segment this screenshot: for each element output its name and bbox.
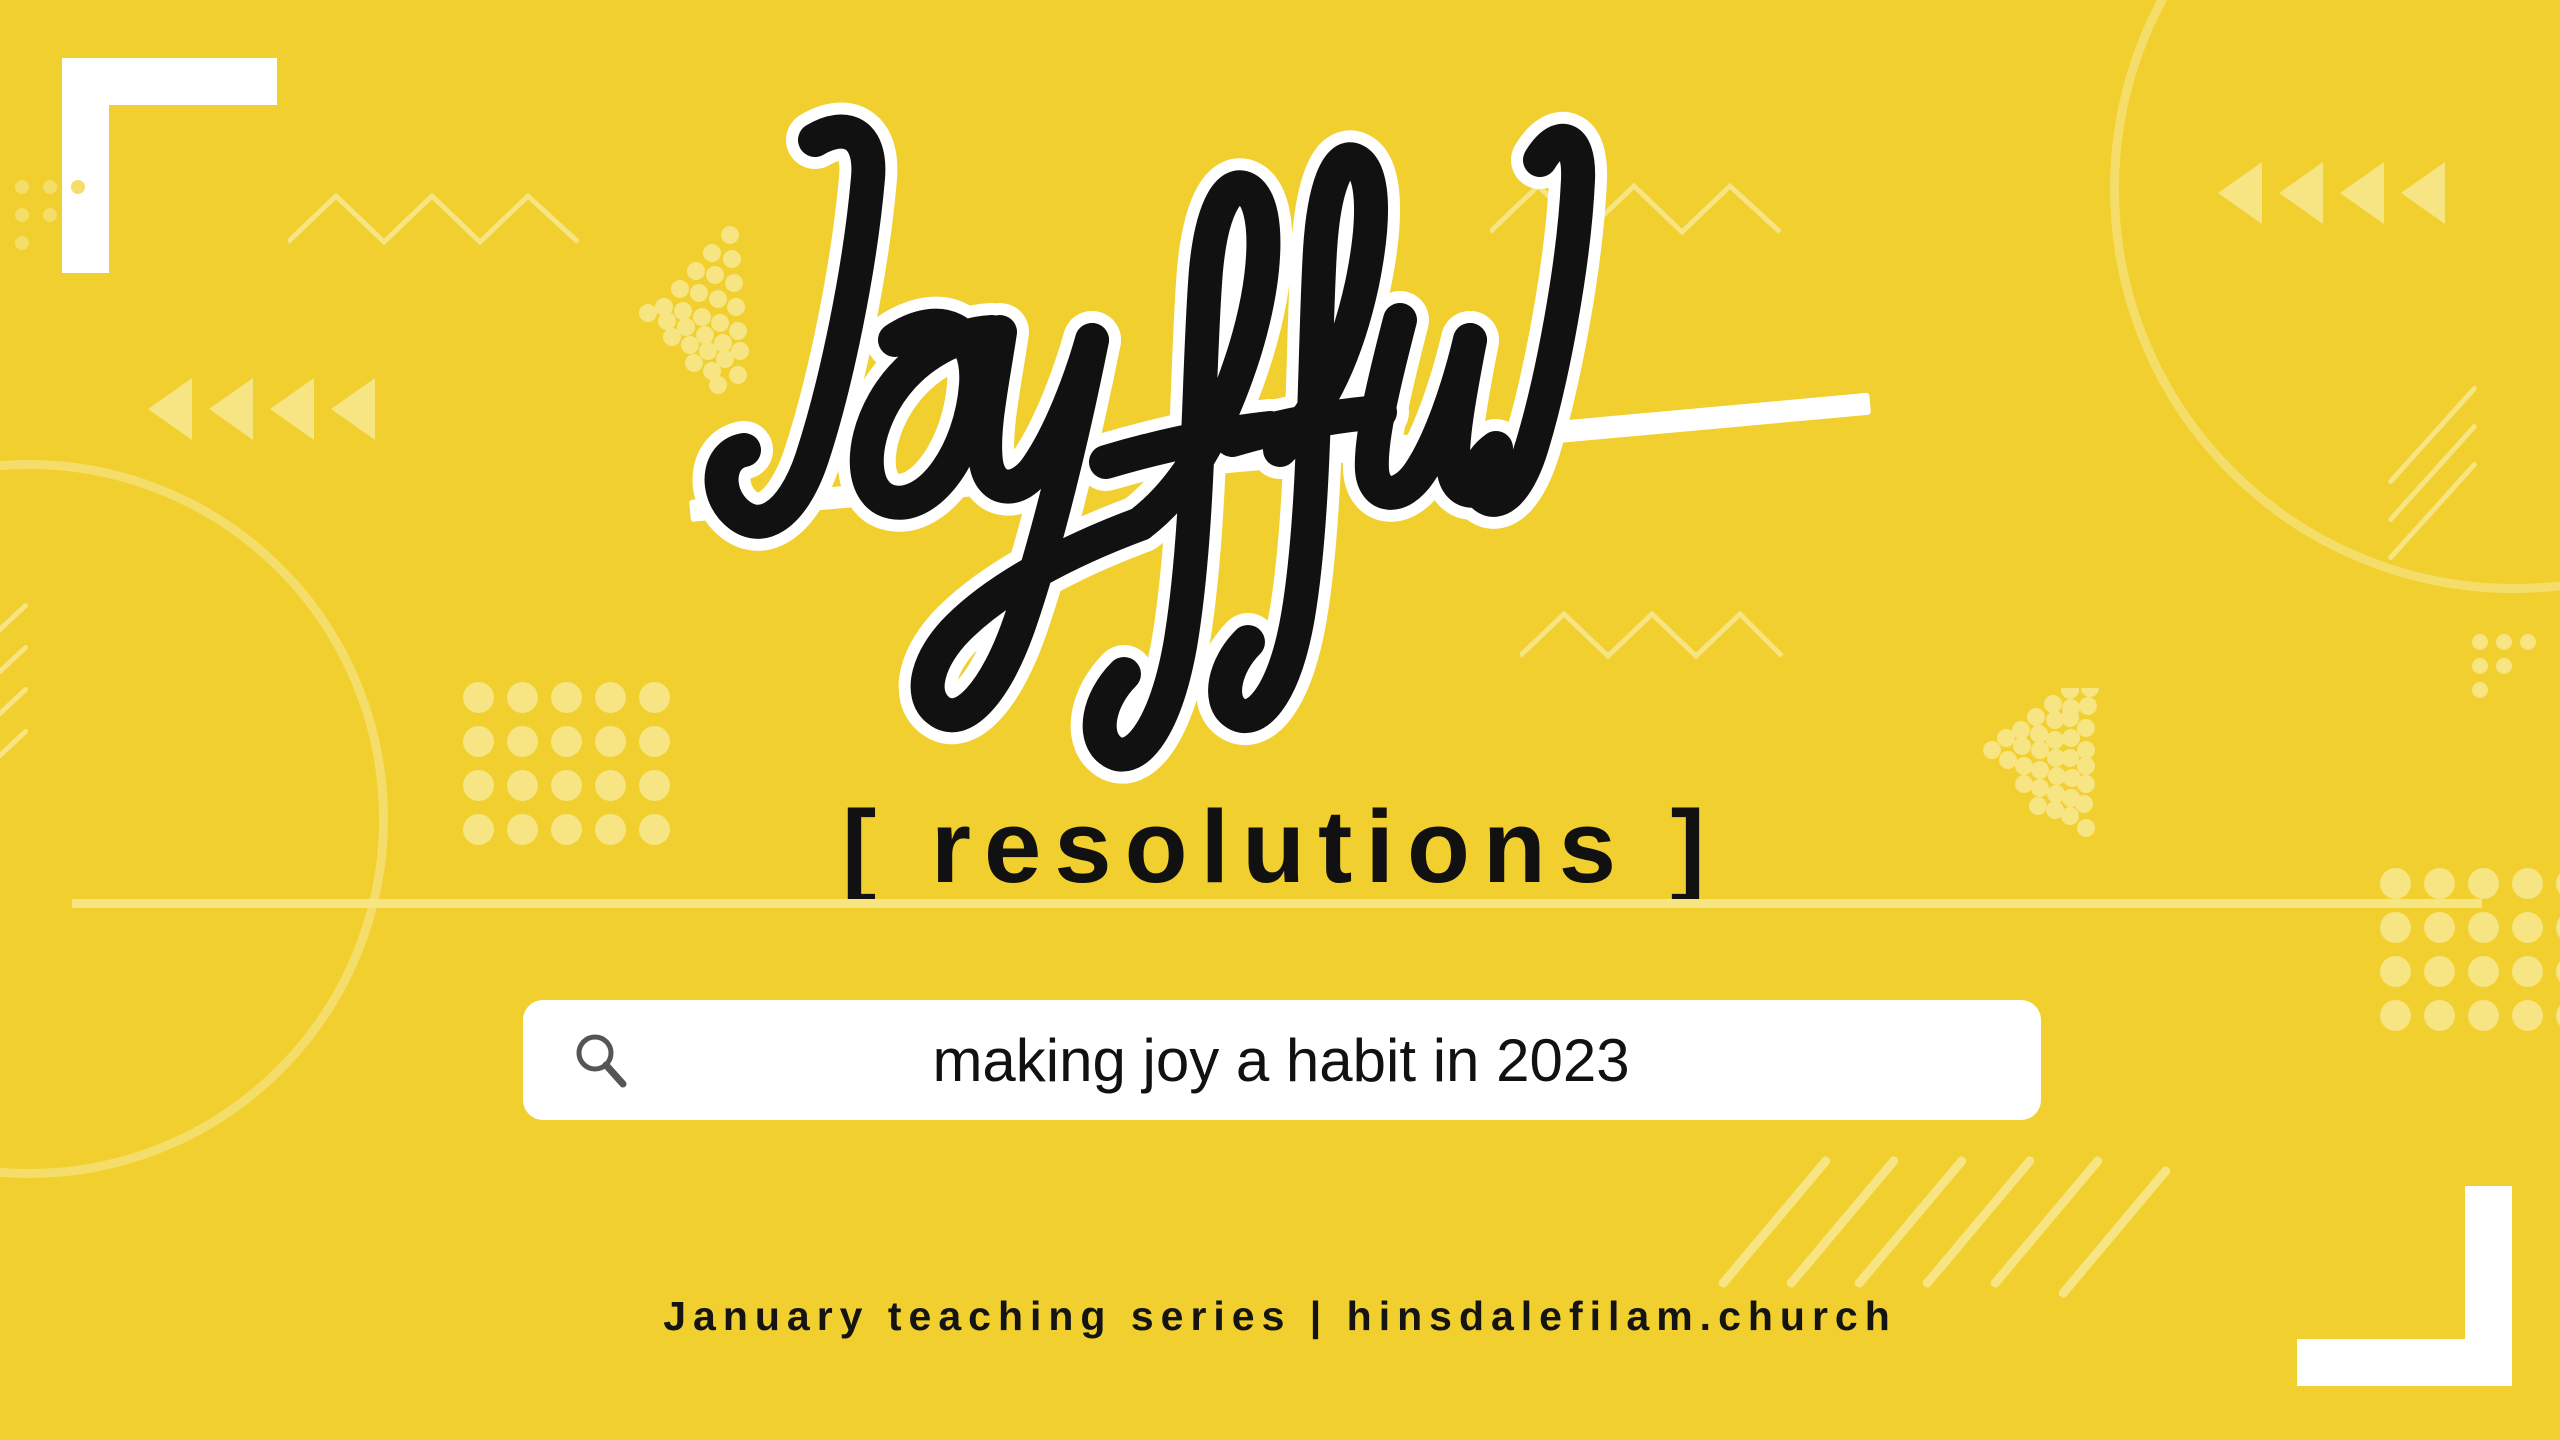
dot bbox=[2380, 1000, 2411, 1031]
subtitle-resolutions: [ resolutions ] bbox=[842, 795, 1718, 898]
subtitle-block: [ resolutions ] bbox=[0, 795, 2560, 898]
corner-bracket-bottom-right-vertical bbox=[2465, 1186, 2512, 1386]
dot bbox=[2512, 1000, 2543, 1031]
hero-wordmark bbox=[0, 10, 2560, 800]
dot bbox=[2424, 912, 2455, 943]
poster-canvas: [ resolutions ] making joy a habit in 20… bbox=[0, 0, 2560, 1440]
dot bbox=[2556, 1000, 2560, 1031]
dot bbox=[2512, 956, 2543, 987]
dot bbox=[2468, 1000, 2499, 1031]
search-icon[interactable] bbox=[571, 1030, 631, 1090]
dot bbox=[2380, 956, 2411, 987]
dot bbox=[2468, 956, 2499, 987]
diagonal-lines-bottom-right bbox=[1740, 1120, 2140, 1320]
dot bbox=[2468, 912, 2499, 943]
search-bar[interactable]: making joy a habit in 2023 bbox=[523, 1000, 2041, 1120]
joyful-script-text bbox=[640, 10, 1920, 800]
footer-text: January teaching series | hinsdalefilam.… bbox=[0, 1293, 2560, 1340]
corner-bracket-bottom-right-horizontal bbox=[2297, 1339, 2512, 1386]
dot bbox=[2556, 912, 2560, 943]
dot bbox=[2424, 956, 2455, 987]
subtitle-underline bbox=[72, 899, 2482, 908]
dot bbox=[2424, 1000, 2455, 1031]
search-input[interactable]: making joy a habit in 2023 bbox=[631, 1026, 1931, 1095]
dot bbox=[2512, 912, 2543, 943]
dot bbox=[2556, 956, 2560, 987]
dot bbox=[2380, 912, 2411, 943]
